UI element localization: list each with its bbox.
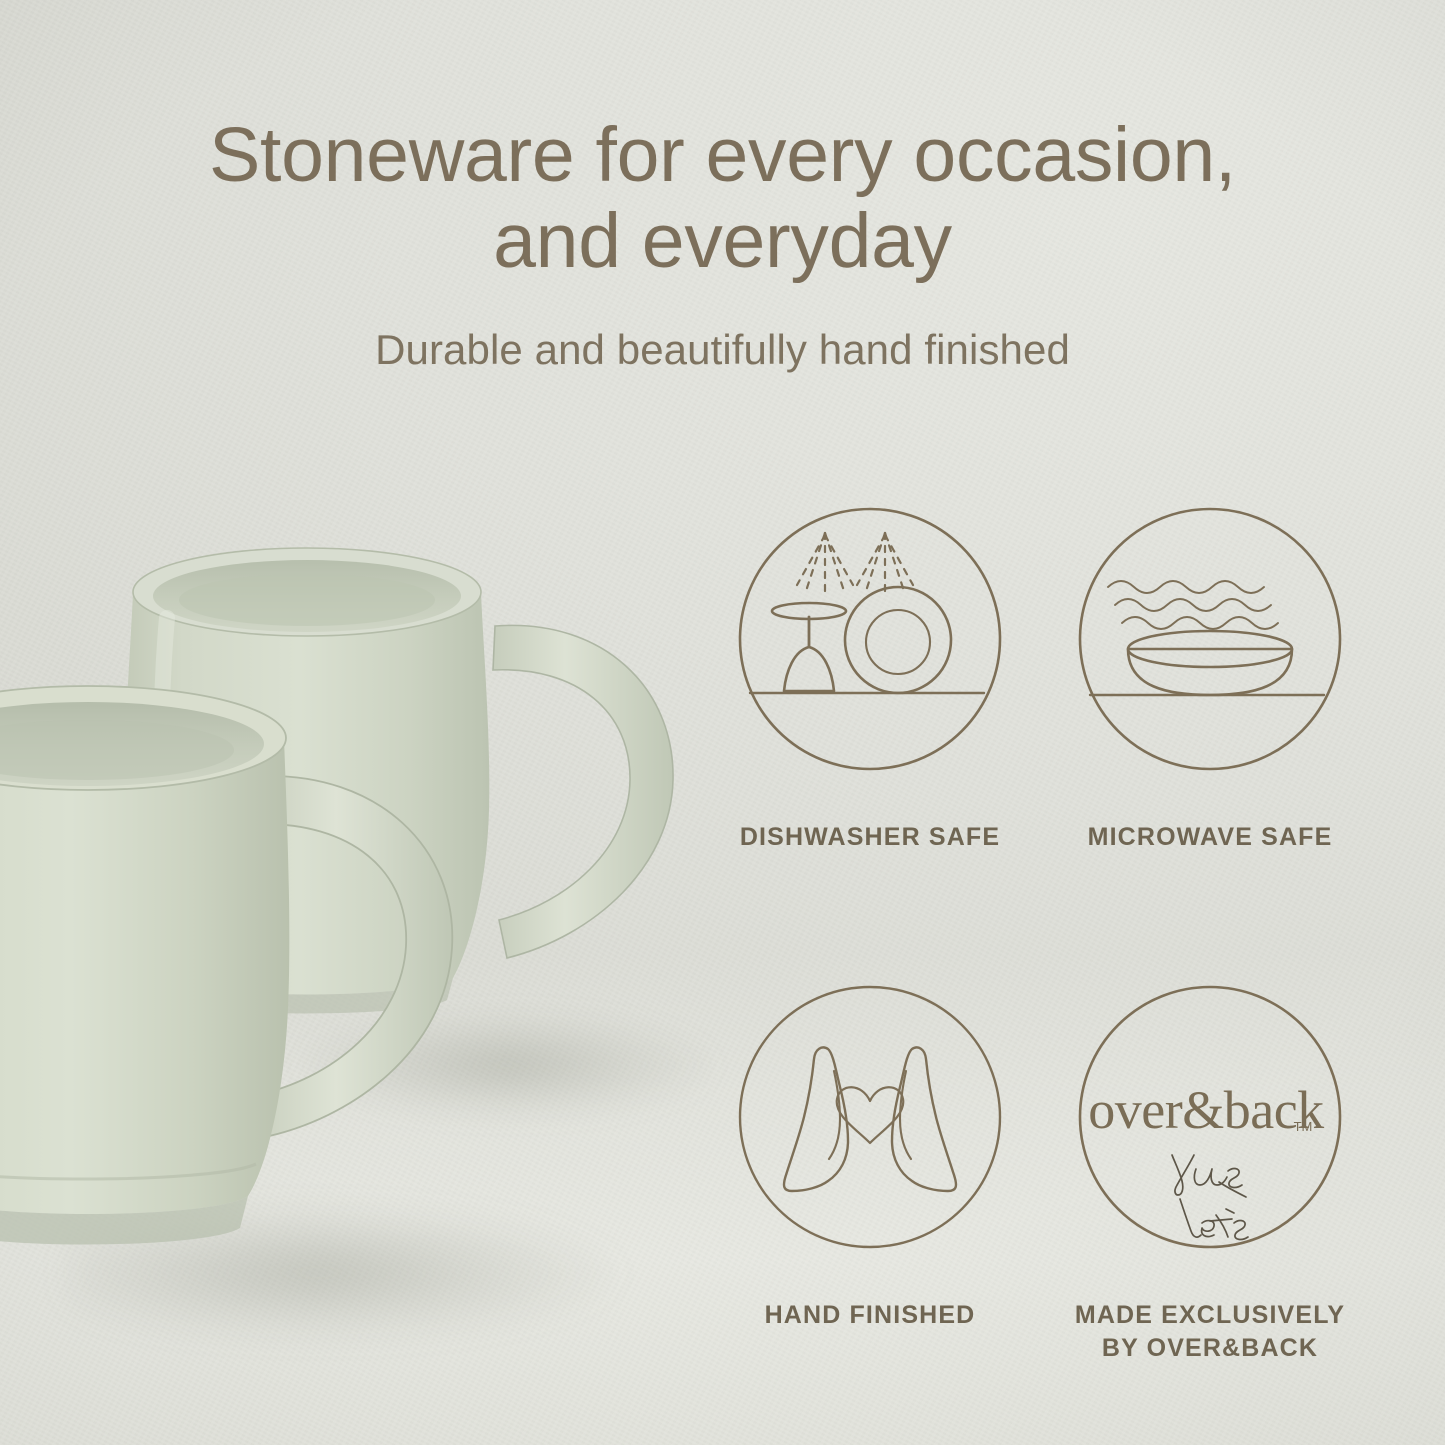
feature-badge-grid: DISHWASHER SAFE — [700, 505, 1400, 1366]
front-mug-body — [0, 738, 289, 1214]
over-and-back-logo-icon: over&back TM — [1076, 983, 1344, 1251]
badge-microwave-safe: MICROWAVE SAFE — [1040, 505, 1380, 855]
badge-label-microwave: MICROWAVE SAFE — [1088, 821, 1333, 855]
plate-outer — [845, 587, 951, 693]
badge-hand-finished: HAND FINISHED — [700, 983, 1040, 1366]
microwave-waves — [1108, 581, 1278, 629]
glass-bowl — [784, 647, 834, 691]
product-photo-mugs — [0, 0, 720, 1445]
bowl-body — [1128, 649, 1292, 695]
hands-heart-icon — [736, 983, 1004, 1251]
front-mug — [0, 668, 580, 1288]
badge-made-exclusively: over&back TM — [1040, 983, 1380, 1366]
water-spray — [797, 533, 913, 593]
badge-row-top: DISHWASHER SAFE — [700, 505, 1400, 855]
microwave-icon — [1076, 505, 1344, 773]
right-hand — [892, 1047, 956, 1191]
back-mug-interior-shade — [179, 574, 435, 626]
badge-label-hand-finished: HAND FINISHED — [765, 1299, 976, 1333]
badge-label-made-exclusively: MADE EXCLUSIVELY BY OVER&BACK — [1075, 1299, 1345, 1366]
plate-inner — [866, 610, 930, 674]
badge-ring — [740, 509, 1000, 769]
brand-script-tagline — [1172, 1155, 1248, 1239]
badge-row-bottom: HAND FINISHED over&back TM — [700, 983, 1400, 1366]
badge-ring — [1080, 509, 1340, 769]
dishwasher-icon — [736, 505, 1004, 773]
product-feature-image: Stoneware for every occasion, and everyd… — [0, 0, 1445, 1445]
badge-label-dishwasher: DISHWASHER SAFE — [740, 821, 1000, 855]
badge-ring — [740, 987, 1000, 1247]
left-hand — [784, 1047, 848, 1191]
badge-dishwasher-safe: DISHWASHER SAFE — [700, 505, 1040, 855]
brand-wordmark: over&back — [1088, 1080, 1324, 1140]
trademark-symbol: TM — [1294, 1119, 1313, 1134]
